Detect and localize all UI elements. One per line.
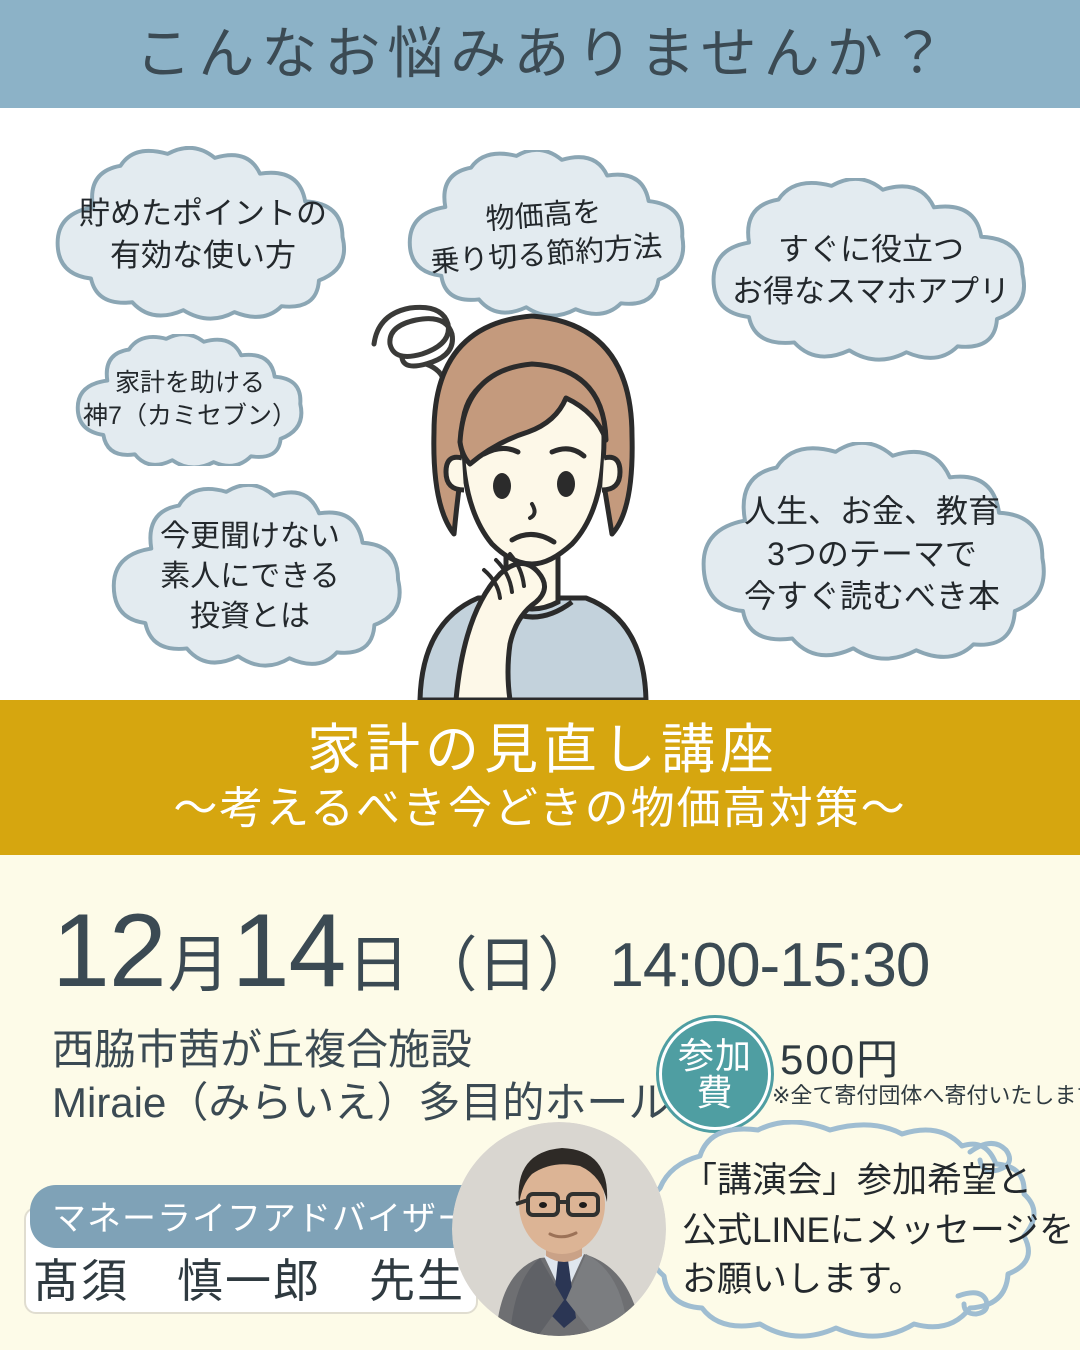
- page-title: こんなお悩みありませんか？: [127, 26, 952, 82]
- event-day-number: 14: [232, 903, 346, 1001]
- event-datetime: 12 月 14 日 （日） 14:00-15:30: [52, 903, 929, 1001]
- speech-bubble-books: 人生、お金、教育 3つのテーマで 今すぐ読むべき本: [678, 442, 1066, 666]
- event-month-unit: 月: [168, 937, 230, 995]
- flyer-root: こんなお悩みありませんか？ 貯めたポイントの 有効な使い方 物価高を 乗り切る節…: [0, 0, 1080, 1350]
- event-title-band: 家計の見直し講座 ～考えるべき今どきの物価高対策～: [0, 700, 1080, 855]
- speech-bubble-label: すぐに役立つ お得なスマホアプリ: [726, 229, 1016, 312]
- scribble-icon: [374, 307, 452, 382]
- event-day-of-week: （日）: [417, 938, 597, 994]
- cta-text: 「講演会」参加希望と 公式LINEにメッセージを お願いします。: [682, 1156, 1074, 1305]
- speaker-role-badge: マネーライフアドバイザー: [30, 1185, 494, 1248]
- speech-bubble-label: 家計を助ける 神7（カミセブン）: [77, 367, 303, 434]
- event-venue: 西脇市茜が丘複合施設 Miraie（みらいえ）多目的ホール: [52, 1023, 670, 1130]
- header-band: こんなお悩みありませんか？: [0, 0, 1080, 108]
- eye-right: [557, 471, 575, 497]
- fee-badge-line2: 費: [696, 1074, 733, 1111]
- event-subtitle: ～考えるべき今どきの物価高対策～: [173, 785, 906, 833]
- cta-speech-bubble: 「講演会」参加希望と 公式LINEにメッセージを お願いします。: [640, 1120, 1080, 1350]
- fee-badge: 参加 費: [659, 1018, 771, 1130]
- event-day-unit: 日: [347, 937, 409, 995]
- speech-bubble-kami7: 家計を助ける 神7（カミセブン）: [62, 334, 318, 466]
- worried-woman-illustration: [360, 272, 700, 700]
- event-time: 14:00-15:30: [609, 937, 929, 995]
- speech-bubble-label: 今更聞けない 素人にできる 投資とは: [154, 517, 346, 638]
- speaker-portrait: [452, 1122, 666, 1336]
- speech-bubble-label: 人生、お金、教育 3つのテーマで 今すぐ読むべき本: [738, 490, 1006, 619]
- speech-bubble-investing: 今更聞けない 素人にできる 投資とは: [96, 484, 404, 670]
- speech-bubble-points: 貯めたポイントの 有効な使い方: [36, 146, 370, 324]
- event-title: 家計の見直し講座: [301, 722, 779, 779]
- eye-left: [493, 473, 511, 499]
- speaker-name: 髙須 慎一郎 先生: [24, 1245, 474, 1311]
- event-month-number: 12: [52, 903, 166, 1001]
- fee-note: ※全て寄付団体へ寄付いたします。: [772, 1078, 1080, 1110]
- speech-bubble-label: 貯めたポイントの 有効な使い方: [73, 193, 333, 276]
- fee-badge-line1: 参加: [678, 1037, 752, 1074]
- speech-bubble-apps: すぐに役立つ お得なスマホアプリ: [686, 178, 1056, 364]
